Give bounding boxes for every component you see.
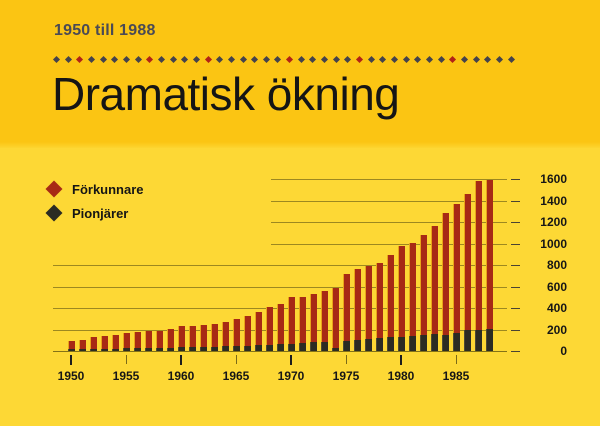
x-axis-tick-label: 1960 [156, 369, 206, 383]
bar-segment-pionjarer [431, 334, 438, 351]
bar-segment-forkunnare [178, 326, 185, 347]
bar-segment-forkunnare [233, 319, 240, 346]
bar-column [464, 194, 471, 351]
bar-column [409, 243, 416, 351]
bar-segment-pionjarer [486, 329, 493, 351]
bar-segment-pionjarer [277, 344, 284, 351]
y-axis-tick [511, 308, 520, 309]
bar-segment-forkunnare [101, 336, 108, 349]
bar-segment-forkunnare [134, 332, 141, 348]
bar-segment-forkunnare [486, 180, 493, 329]
bar-segment-pionjarer [255, 345, 262, 351]
bar-segment-forkunnare [420, 235, 427, 335]
bar-segment-forkunnare [365, 266, 372, 339]
bar-segment-forkunnare [156, 331, 163, 348]
bar-column [332, 288, 339, 351]
x-axis-tick-label: 1950 [46, 369, 96, 383]
y-axis-tick [511, 265, 520, 266]
bar-segment-pionjarer [112, 349, 119, 351]
y-axis-tick [511, 222, 520, 223]
bar-segment-pionjarer [101, 349, 108, 351]
x-axis-tick-label: 1965 [211, 369, 261, 383]
bar-segment-pionjarer [189, 347, 196, 351]
y-axis-tick [511, 330, 520, 331]
x-axis-tick [290, 355, 292, 365]
bar-segment-pionjarer [442, 335, 449, 351]
bar-segment-pionjarer [376, 338, 383, 351]
bar-segment-forkunnare [211, 324, 218, 347]
bar-column [442, 213, 449, 351]
y-axis-tick [511, 351, 520, 352]
x-axis-tick-label: 1980 [376, 369, 426, 383]
bar-segment-forkunnare [167, 329, 174, 348]
bar-segment-pionjarer [288, 344, 295, 351]
gridline [271, 201, 507, 202]
bar-column [255, 312, 262, 351]
bar-column [123, 333, 130, 351]
bar-column [167, 329, 174, 351]
bar-column [288, 297, 295, 351]
bar-segment-forkunnare [79, 340, 86, 349]
gridline [53, 351, 507, 352]
bar-column [321, 291, 328, 351]
bar-segment-pionjarer [332, 348, 339, 351]
bar-segment-forkunnare [376, 263, 383, 338]
bar-segment-pionjarer [420, 335, 427, 351]
gridline [271, 222, 507, 223]
x-axis-tick [400, 355, 402, 365]
bar-segment-forkunnare [255, 312, 262, 345]
y-axis-tick-label: 1400 [523, 194, 567, 208]
x-axis-tick [456, 355, 457, 364]
bar-column [79, 340, 86, 351]
bar-column [420, 235, 427, 351]
bar-segment-pionjarer [244, 346, 251, 351]
y-axis-tick [511, 244, 520, 245]
bar-column [68, 341, 75, 351]
bar-segment-pionjarer [354, 340, 361, 351]
bar-segment-forkunnare [112, 335, 119, 349]
bar-column [134, 332, 141, 351]
bar-segment-pionjarer [266, 345, 273, 351]
x-axis-tick-label: 1970 [266, 369, 316, 383]
bar-segment-pionjarer [134, 348, 141, 351]
bar-segment-forkunnare [464, 194, 471, 330]
bar-segment-forkunnare [321, 291, 328, 342]
bar-segment-pionjarer [453, 333, 460, 351]
bar-segment-pionjarer [409, 336, 416, 351]
bar-column [145, 331, 152, 351]
bar-segment-pionjarer [90, 349, 97, 351]
bar-column [354, 269, 361, 351]
bar-column [376, 263, 383, 351]
bar-segment-forkunnare [244, 316, 251, 346]
bar-segment-pionjarer [167, 348, 174, 351]
slide-canvas: 1950 till 1988 Dramatisk ökning Förkunna… [0, 0, 600, 426]
bar-column [453, 204, 460, 351]
bar-segment-forkunnare [343, 274, 350, 340]
y-axis-tick-label: 0 [523, 344, 567, 358]
bar-segment-pionjarer [233, 346, 240, 351]
bar-column [189, 326, 196, 351]
x-axis-tick [126, 355, 127, 364]
bar-segment-pionjarer [464, 330, 471, 351]
x-axis-tick [236, 355, 237, 364]
bar-segment-forkunnare [442, 213, 449, 335]
x-axis-tick-label: 1985 [431, 369, 481, 383]
bar-column [233, 319, 240, 351]
bar-segment-pionjarer [365, 339, 372, 351]
bar-segment-pionjarer [343, 341, 350, 351]
bar-column [200, 325, 207, 351]
bar-segment-pionjarer [145, 348, 152, 351]
bar-segment-forkunnare [68, 341, 75, 349]
bar-column [211, 324, 218, 351]
bar-segment-pionjarer [200, 347, 207, 351]
bar-segment-pionjarer [156, 348, 163, 351]
bar-segment-forkunnare [288, 297, 295, 344]
bar-column [244, 316, 251, 351]
bar-column [486, 180, 493, 351]
bar-segment-forkunnare [266, 307, 273, 345]
x-axis-tick [180, 355, 182, 365]
gridline [53, 265, 507, 266]
bar-segment-forkunnare [123, 333, 130, 348]
bar-column [90, 337, 97, 351]
bar-column [475, 181, 482, 351]
bar-segment-forkunnare [354, 269, 361, 340]
bar-segment-forkunnare [387, 255, 394, 338]
bar-column [431, 226, 438, 351]
bar-segment-forkunnare [200, 325, 207, 347]
x-axis-tick-label: 1975 [321, 369, 371, 383]
bar-column [343, 274, 350, 351]
gridline [271, 179, 507, 180]
bar-column [277, 304, 284, 351]
bar-segment-pionjarer [398, 337, 405, 351]
bar-segment-pionjarer [222, 346, 229, 351]
bar-segment-forkunnare [222, 322, 229, 347]
bar-segment-forkunnare [277, 304, 284, 344]
bar-column [222, 322, 229, 351]
bar-column [310, 294, 317, 351]
bar-segment-pionjarer [299, 343, 306, 351]
bar-segment-forkunnare [90, 337, 97, 349]
bar-segment-pionjarer [387, 337, 394, 351]
y-axis-tick-label: 800 [523, 258, 567, 272]
bar-column [156, 331, 163, 351]
bar-segment-forkunnare [409, 243, 416, 336]
bar-column [101, 336, 108, 351]
bar-chart: 0200400600800100012001400160019501955196… [0, 0, 600, 426]
y-axis-tick-label: 200 [523, 323, 567, 337]
bar-segment-forkunnare [189, 326, 196, 347]
y-axis-tick-label: 600 [523, 280, 567, 294]
bar-segment-forkunnare [398, 246, 405, 337]
x-axis-tick [70, 355, 72, 365]
bar-segment-forkunnare [431, 226, 438, 334]
bar-segment-forkunnare [332, 288, 339, 348]
bar-segment-forkunnare [145, 331, 152, 348]
y-axis-tick [511, 287, 520, 288]
x-axis-tick-label: 1955 [101, 369, 151, 383]
x-axis-tick [346, 355, 347, 364]
bar-column [266, 307, 273, 351]
y-axis-tick [511, 201, 520, 202]
gridline [271, 244, 507, 245]
y-axis-tick [511, 179, 520, 180]
bar-column [299, 297, 306, 351]
bar-segment-forkunnare [310, 294, 317, 343]
bar-segment-pionjarer [123, 348, 130, 351]
y-axis-tick-label: 1600 [523, 172, 567, 186]
bar-segment-forkunnare [299, 297, 306, 344]
bar-column [112, 335, 119, 351]
bar-segment-pionjarer [310, 342, 317, 351]
bar-segment-pionjarer [178, 347, 185, 351]
bar-column [178, 326, 185, 351]
bar-segment-pionjarer [68, 349, 75, 351]
gridline [53, 287, 507, 288]
y-axis-tick-label: 400 [523, 301, 567, 315]
bar-segment-pionjarer [211, 347, 218, 351]
y-axis-tick-label: 1200 [523, 215, 567, 229]
bar-segment-forkunnare [453, 204, 460, 333]
bar-column [398, 246, 405, 351]
bar-segment-pionjarer [475, 330, 482, 351]
y-axis-tick-label: 1000 [523, 237, 567, 251]
bar-segment-forkunnare [475, 181, 482, 329]
bar-column [365, 266, 372, 351]
bar-column [387, 255, 394, 351]
bar-segment-pionjarer [79, 349, 86, 351]
bar-segment-pionjarer [321, 342, 328, 351]
